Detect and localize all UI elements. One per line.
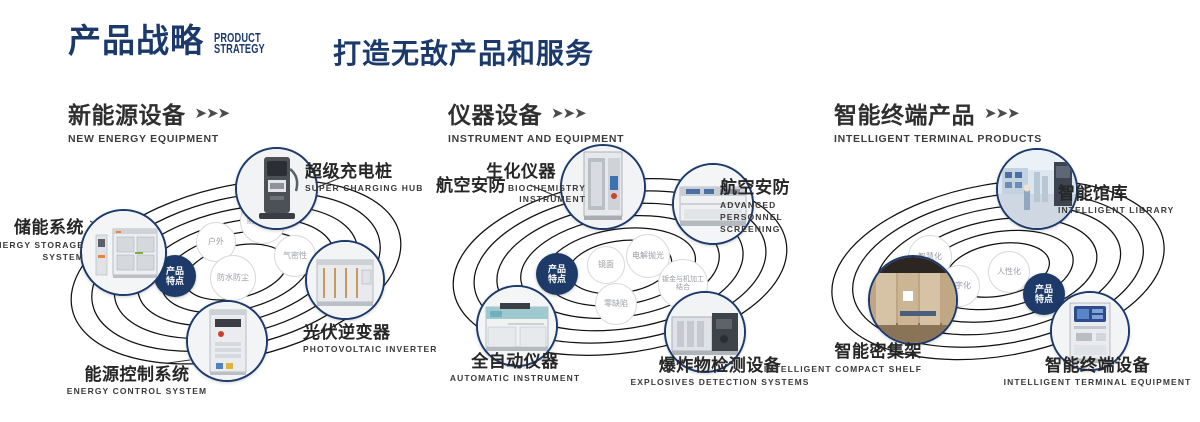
label-cn: 智能密集架 — [722, 337, 922, 362]
label-automatic-instrument: 全自动仪器 AUTOMATIC INSTRUMENT — [430, 347, 600, 383]
poster-canvas: 产品战略 PRODUCT STRATEGY 打造无敌产品和服务 新能源设备 ➤➤… — [0, 0, 1200, 422]
label-intelligent-compact-shelf: 智能密集架 INTELLIGENT COMPACT SHELF — [722, 337, 922, 375]
page-title: 产品战略 — [68, 24, 204, 57]
label-energy-storage-system: 储能系统 ENERGY STORAGE SYSTEM — [0, 213, 84, 263]
page-title-en-line2: STRATEGY — [214, 44, 265, 55]
label-cn: 智能馆库 — [1058, 179, 1174, 204]
section-title-en: INSTRUMENT AND EQUIPMENT — [448, 133, 624, 145]
label-cn: 航空安防 — [720, 173, 820, 198]
node-intelligent-compact-shelf[interactable] — [868, 255, 958, 345]
node-photovoltaic-inverter[interactable] — [305, 240, 385, 320]
section-title-cn: 智能终端产品 ➤➤➤ — [834, 96, 1042, 130]
chevron-right-icon: ➤➤➤ — [551, 106, 586, 121]
feature-core-line1: 产品 — [548, 264, 566, 274]
label-en: PHOTOVOLTAIC INVERTER — [303, 344, 438, 354]
label-cn: 生化仪器 — [456, 157, 586, 182]
section-title-en: INTELLIGENT TERMINAL PRODUCTS — [834, 133, 1042, 145]
section-title-cn-text: 智能终端产品 — [834, 96, 975, 130]
cluster-intelligent-terminal: 智慧化 数字化 人性化 产品 特点 — [810, 155, 1200, 395]
label-advanced-personnel-screening: 航空安防 ADVANCED PERSONNEL SCREENING — [720, 173, 820, 235]
chevron-right-icon: ➤➤➤ — [984, 106, 1019, 121]
page-slogan: 打造无敌产品和服务 — [333, 32, 594, 72]
label-energy-control-system: 能源控制系统 ENERGY CONTROL SYSTEM — [42, 360, 232, 396]
feature-bubble-zerodefect: 零缺陷 — [595, 283, 637, 325]
section-title-intelligent-terminal: 智能终端产品 ➤➤➤ INTELLIGENT TERMINAL PRODUCTS — [834, 96, 1042, 145]
section-title-cn: 仪器设备 ➤➤➤ — [448, 96, 624, 130]
label-en: INTELLIGENT COMPACT SHELF — [722, 363, 922, 375]
label-en: AUTOMATIC INSTRUMENT — [430, 373, 600, 383]
section-title-cn: 新能源设备 ➤➤➤ — [68, 96, 229, 130]
chevron-right-icon: ➤➤➤ — [195, 106, 230, 121]
feature-core-line1: 产品 — [166, 266, 184, 276]
label-en: ENERGY STORAGE SYSTEM — [0, 239, 84, 263]
label-cn: 智能终端设备 — [995, 351, 1200, 376]
label-en: ENERGY CONTROL SYSTEM — [42, 386, 232, 396]
compact-shelf-icon — [870, 257, 956, 343]
label-cn: 全自动仪器 — [430, 347, 600, 372]
feature-core-line2: 特点 — [166, 276, 184, 286]
pv-inverter-cabinet-icon — [307, 242, 383, 318]
label-biochemistry-instrument: 生化仪器 BIOCHEMISTRY INSTRUMENT — [456, 157, 586, 205]
label-en: INTELLIGENT LIBRARY — [1058, 205, 1174, 215]
section-title-en: NEW ENERGY EQUIPMENT — [68, 133, 229, 145]
feature-core-line1: 产品 — [1035, 284, 1053, 294]
energy-storage-cabinet-icon — [82, 211, 165, 294]
label-intelligent-terminal-equipment: 智能终端设备 INTELLIGENT TERMINAL EQUIPMENT — [995, 351, 1200, 387]
label-cn: 光伏逆变器 — [303, 318, 438, 343]
cluster-new-energy: 产品 特点 户外 防腐防锈 防水防尘 气密性 — [50, 155, 430, 395]
feature-bubble-waterproof: 防水防尘 — [210, 255, 256, 301]
node-energy-storage-system[interactable] — [80, 209, 167, 296]
feature-core-line2: 特点 — [548, 274, 566, 284]
feature-core-line2: 特点 — [1035, 294, 1053, 304]
label-en: EXPLOSIVES DETECTION SYSTEMS — [620, 377, 820, 387]
feature-bubble-mirror: 镜面 — [587, 246, 625, 284]
label-en: BIOCHEMISTRY INSTRUMENT — [456, 183, 586, 205]
section-title-cn-text: 仪器设备 — [448, 96, 542, 130]
label-intelligent-library: 智能馆库 INTELLIGENT LIBRARY — [1058, 179, 1174, 215]
page-title-en: PRODUCT STRATEGY — [214, 33, 265, 55]
label-en: INTELLIGENT TERMINAL EQUIPMENT — [995, 377, 1200, 387]
label-photovoltaic-inverter: 光伏逆变器 PHOTOVOLTAIC INVERTER — [303, 318, 438, 354]
section-title-instrument: 仪器设备 ➤➤➤ INSTRUMENT AND EQUIPMENT — [448, 96, 624, 145]
label-cn: 能源控制系统 — [42, 360, 232, 385]
poster-header: 产品战略 PRODUCT STRATEGY — [68, 24, 283, 57]
label-en: ADVANCED PERSONNEL SCREENING — [720, 199, 820, 235]
section-title-new-energy: 新能源设备 ➤➤➤ NEW ENERGY EQUIPMENT — [68, 96, 229, 145]
section-title-cn-text: 新能源设备 — [68, 96, 186, 130]
label-cn: 储能系统 — [0, 213, 84, 238]
